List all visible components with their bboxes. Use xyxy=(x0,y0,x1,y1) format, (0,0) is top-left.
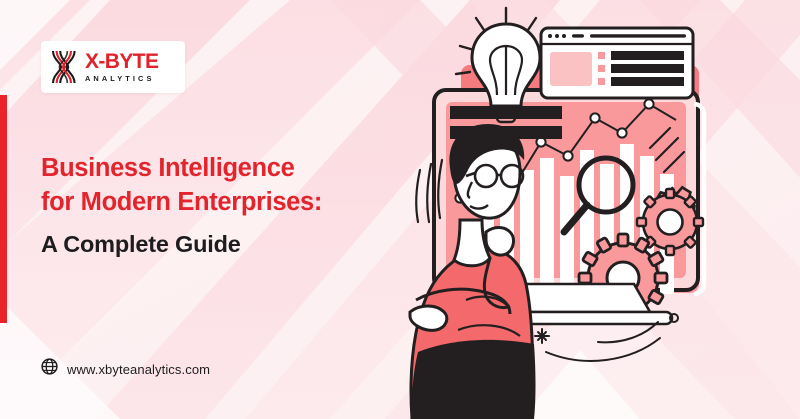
x-byte-dna-mark-icon xyxy=(51,50,77,84)
sparkle-icon xyxy=(535,329,549,343)
person-thinking xyxy=(410,124,536,419)
website-url-text[interactable]: www.xbyteanalytics.com xyxy=(67,362,210,377)
logo-wordmark: X-BYTE ANALYTICS xyxy=(85,51,158,82)
headline-block: Business Intelligence for Modern Enterpr… xyxy=(41,152,381,260)
logo-subtitle: ANALYTICS xyxy=(85,75,158,82)
headline-line-1: Business Intelligence xyxy=(41,152,381,186)
left-accent-bar xyxy=(0,95,7,323)
logo-mark-svg xyxy=(51,50,77,84)
person-hand-chin xyxy=(486,228,513,256)
person-hand-elbow xyxy=(410,306,447,330)
globe-icon xyxy=(41,358,58,380)
person-pants xyxy=(412,340,536,419)
logo-word: X-BYTE xyxy=(85,51,158,72)
headline-line-3: A Complete Guide xyxy=(41,229,381,260)
globe-icon-svg xyxy=(41,358,58,375)
business-intelligence-illustration xyxy=(398,0,800,419)
browser-card[interactable] xyxy=(541,28,693,98)
banner-root: X-BYTE ANALYTICS Business Intelligence f… xyxy=(0,0,800,419)
browser-card-thumbnail xyxy=(550,52,592,86)
website-url-row[interactable]: www.xbyteanalytics.com xyxy=(41,358,210,380)
motion-swoosh xyxy=(546,322,660,361)
brand-logo[interactable]: X-BYTE ANALYTICS xyxy=(41,41,185,93)
headline-line-2: for Modern Enterprises: xyxy=(41,186,381,220)
illustration-svg xyxy=(398,0,800,419)
